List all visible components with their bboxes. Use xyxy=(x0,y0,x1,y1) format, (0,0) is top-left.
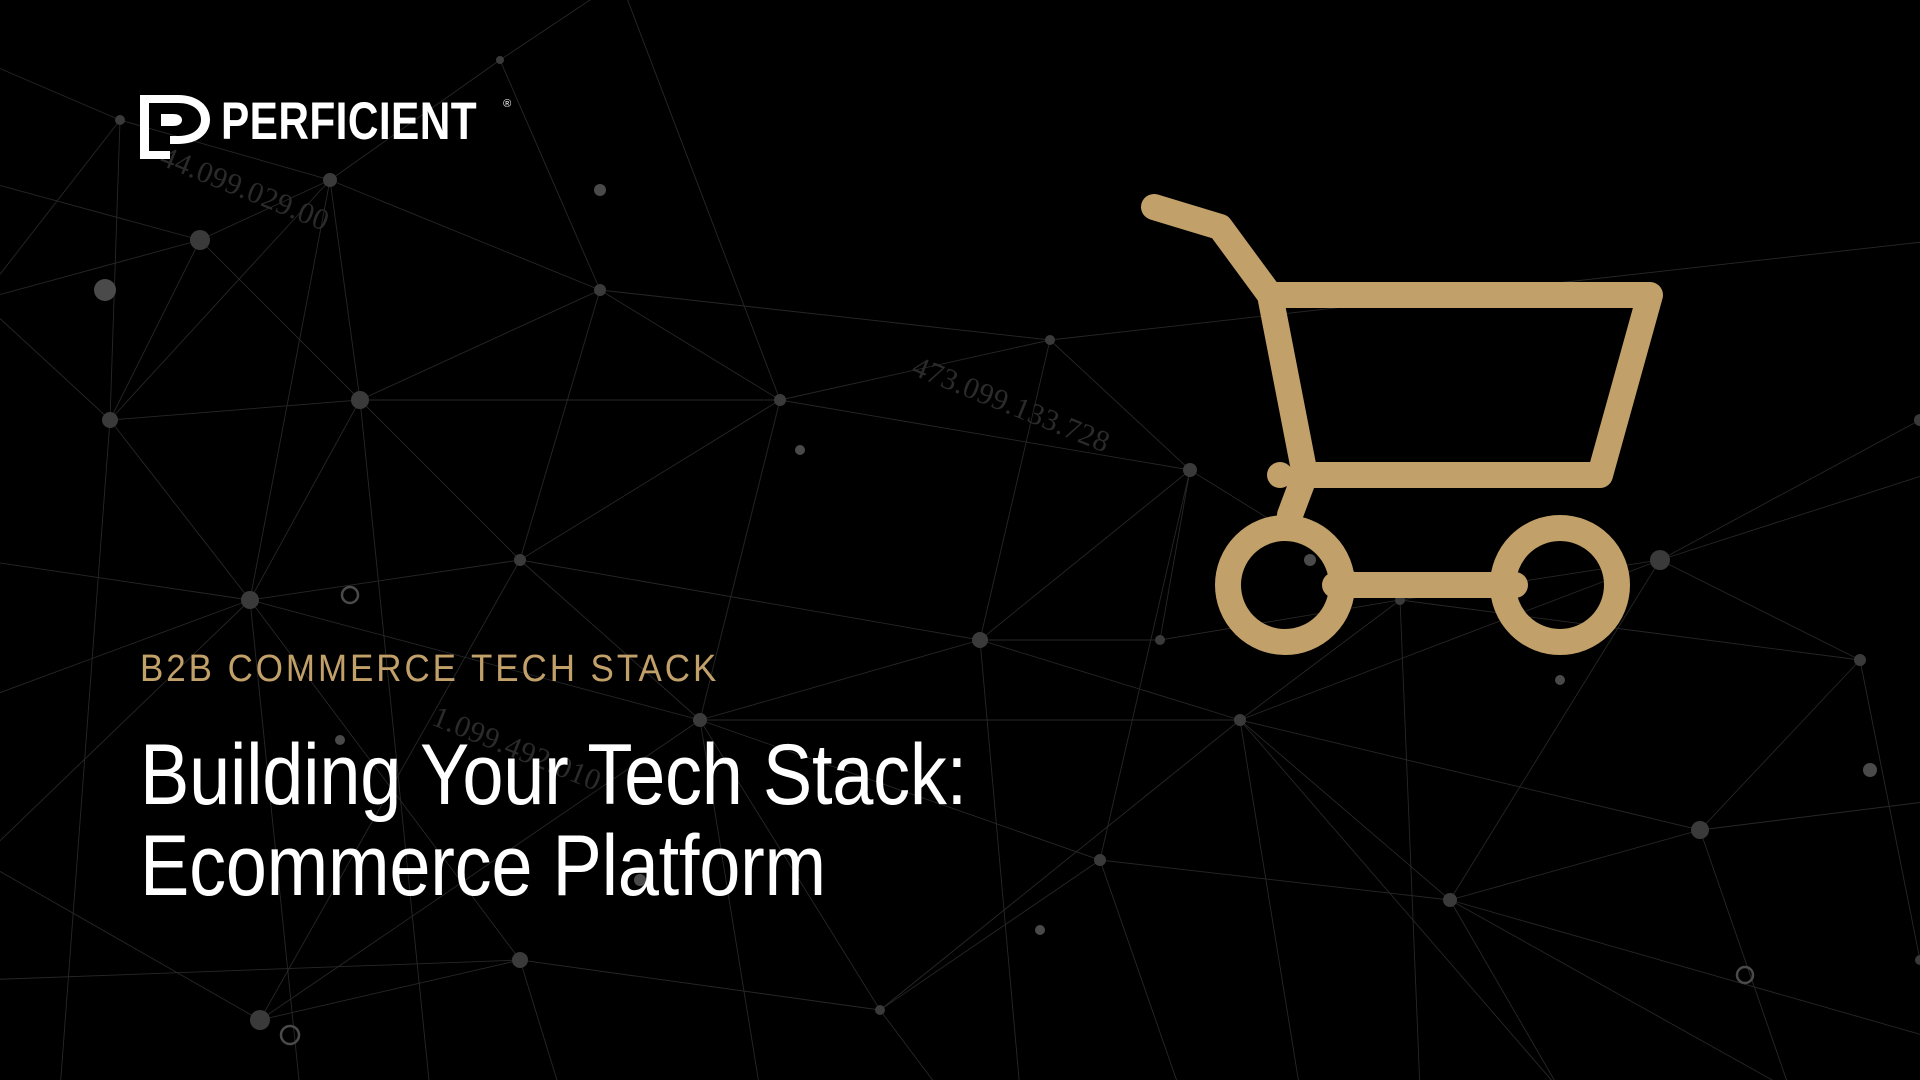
logo-wordmark-text: PERFICIENT xyxy=(221,95,477,148)
eyebrow-label: B2B COMMERCE TECH STACK xyxy=(140,650,1060,688)
registered-trademark-icon: ® xyxy=(503,99,511,110)
headline-line-1: Building Your Tech Stack: xyxy=(140,730,1000,821)
perficient-p-logomark xyxy=(140,95,212,159)
page-title: Building Your Tech Stack: Ecommerce Plat… xyxy=(140,730,1000,912)
headline-line-2: Ecommerce Platform xyxy=(140,821,1000,912)
perficient-logo: PERFICIENT ® xyxy=(140,95,511,159)
perficient-wordmark: PERFICIENT ® xyxy=(221,95,511,148)
watermark-number-2: 473.099.133.728 xyxy=(907,350,1114,460)
title-slide: 44.099.029.00 473.099.133.728 1.099.492.… xyxy=(0,0,1920,1080)
hero-text-block: B2B COMMERCE TECH STACK Building Your Te… xyxy=(140,650,1140,912)
shopping-cart-icon xyxy=(1120,175,1680,655)
